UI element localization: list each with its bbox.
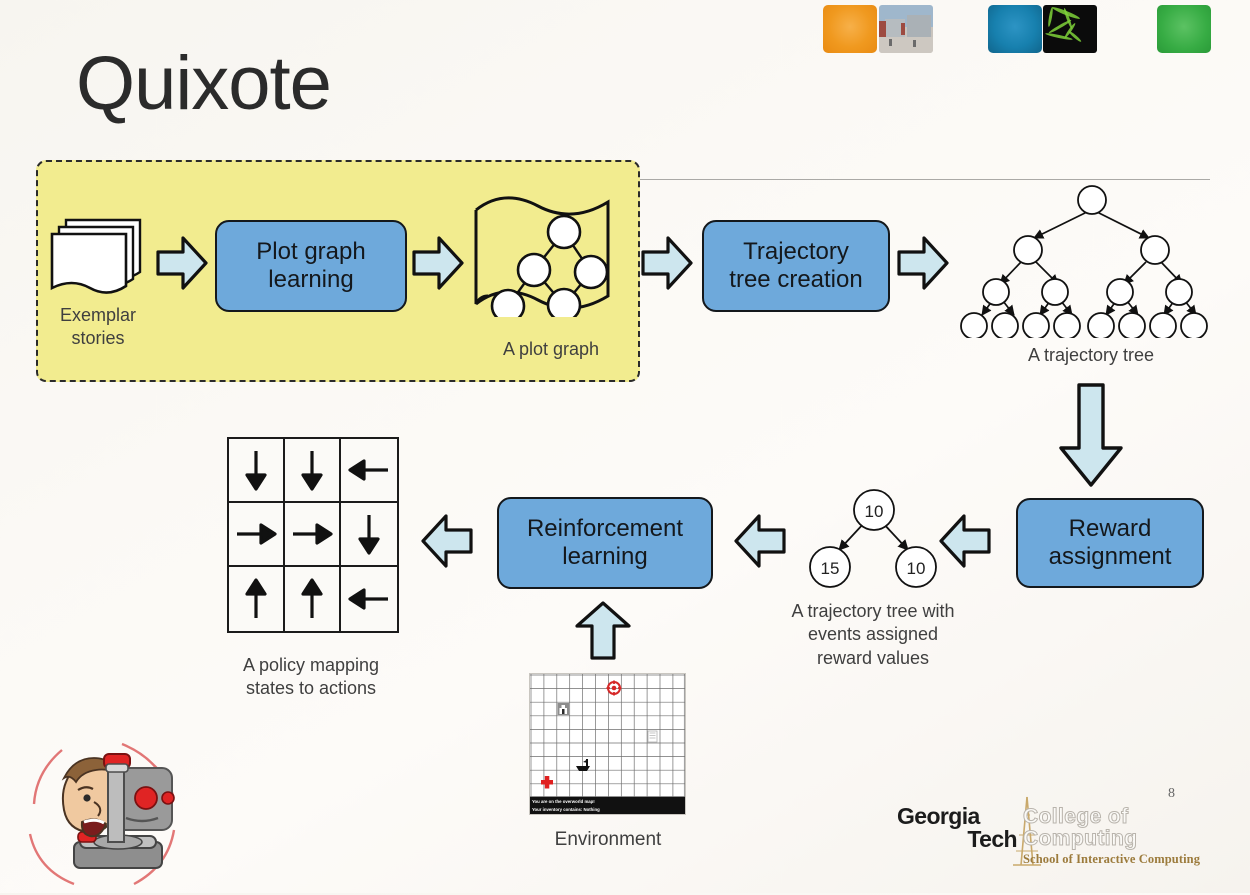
- plot-graph-artifact: [466, 192, 626, 317]
- flow-arrow-left-1: [938, 510, 992, 572]
- blue-square: [988, 5, 1042, 53]
- reinforcement-learning-label-line2: learning: [527, 543, 683, 571]
- policy-grid-caption: A policy mapping states to actions: [211, 654, 411, 701]
- environment-status-bar: You are on the overworld map! Your inven…: [530, 797, 685, 814]
- exemplar-stories-caption: Exemplar stories: [28, 304, 168, 351]
- plot-graph-learning-label-line1: Plot graph: [256, 238, 365, 266]
- arrow-right-icon: [291, 521, 333, 547]
- policy-cell-0-1: [285, 439, 341, 503]
- flow-arrow-up-environment: [572, 600, 634, 662]
- decorative-square-strip: [823, 5, 1243, 53]
- svg-text:15: 15: [821, 559, 840, 578]
- policy-cell-2-2: [341, 567, 397, 631]
- reward-tree-caption-line1: A trajectory tree with: [768, 600, 978, 623]
- arrow-down-icon: [243, 449, 269, 491]
- policy-cell-2-0: [229, 567, 285, 631]
- reward-tree-caption-line3: reward values: [768, 647, 978, 670]
- arrow-down-icon: [356, 513, 382, 555]
- reward-assignment-label-line2: assignment: [1049, 543, 1172, 571]
- flow-arrow-right-3: [640, 232, 694, 294]
- reward-tree-artifact: 10 15 10: [800, 488, 940, 598]
- reward-tree-caption: A trajectory tree with events assigned r…: [768, 600, 978, 670]
- tower-sprite: [648, 731, 657, 742]
- flow-arrow-down-big: [1055, 382, 1127, 490]
- trajectory-tree-creation-label-line1: Trajectory: [729, 238, 862, 266]
- process-box-trajectory-tree-creation[interactable]: Trajectory tree creation: [702, 220, 890, 312]
- flow-arrow-right-2: [411, 232, 465, 294]
- college-of-computing-line2: Computing: [1023, 828, 1218, 850]
- svg-text:10: 10: [865, 502, 884, 521]
- flow-arrow-right-1: [155, 232, 209, 294]
- castle-sprite: [558, 703, 570, 715]
- environment-status-line1: You are on the overworld map!: [532, 798, 683, 806]
- plot-graph-learning-label-line2: learning: [256, 266, 365, 294]
- environment-caption: Environment: [520, 828, 696, 853]
- trajectory-tree-creation-label-line2: tree creation: [729, 266, 862, 294]
- reward-assignment-label-line1: Reward: [1049, 515, 1172, 543]
- reinforcement-learning-label-line1: Reinforcement: [527, 515, 683, 543]
- policy-cell-1-2: [341, 503, 397, 567]
- exemplar-stories-icon: [48, 216, 148, 296]
- policy-cell-0-0: [229, 439, 285, 503]
- exemplar-stories-caption-line1: Exemplar: [28, 304, 168, 327]
- process-box-plot-graph-learning[interactable]: Plot graph learning: [215, 220, 407, 312]
- school-of-interactive-computing-line: School of Interactive Computing: [1023, 852, 1218, 867]
- trajectory-tree-artifact: [956, 180, 1226, 338]
- flow-arrow-left-3: [420, 510, 474, 572]
- trajectory-tree-caption: A trajectory tree: [986, 344, 1196, 367]
- arrow-left-icon: [348, 457, 390, 483]
- process-box-reinforcement-learning[interactable]: Reinforcement learning: [497, 497, 713, 589]
- campus-photo-square: [879, 5, 933, 53]
- neuron-photo-square: [1043, 5, 1097, 53]
- policy-grid-caption-line2: states to actions: [211, 677, 411, 700]
- environment-grid: [530, 674, 685, 797]
- policy-cell-0-2: [341, 439, 397, 503]
- page-title: Quixote: [76, 46, 331, 122]
- flow-arrow-right-4: [896, 232, 950, 294]
- green-square: [1157, 5, 1211, 53]
- arrow-right-icon: [235, 521, 277, 547]
- policy-cell-2-1: [285, 567, 341, 631]
- georgia-tech-logo-line2: Tech: [897, 828, 1017, 851]
- entertainment-intelligence-lab-logo: [22, 738, 192, 890]
- orange-square: [823, 5, 877, 53]
- georgia-tech-logo: Georgia Tech: [897, 805, 1017, 863]
- exemplar-stories-caption-line2: stories: [28, 327, 168, 350]
- plot-graph-caption: A plot graph: [476, 338, 626, 361]
- environment-status-line2: Your inventory contains: Nothing: [532, 806, 683, 814]
- arrow-up-icon: [243, 578, 269, 620]
- policy-cell-1-1: [285, 503, 341, 567]
- arrow-down-icon: [299, 449, 325, 491]
- policy-cell-1-0: [229, 503, 285, 567]
- policy-grid: [227, 437, 399, 633]
- slide-canvas: Quixote Exemplar stories Plot graph lear…: [0, 0, 1250, 893]
- arrow-left-icon: [348, 586, 390, 612]
- reward-tree-caption-line2: events assigned: [768, 623, 978, 646]
- arrow-up-icon: [299, 578, 325, 620]
- flow-arrow-left-2: [733, 510, 787, 572]
- policy-grid-caption-line1: A policy mapping: [211, 654, 411, 677]
- process-box-reward-assignment[interactable]: Reward assignment: [1016, 498, 1204, 588]
- college-of-computing-line1: College of: [1023, 806, 1218, 828]
- page-number: 8: [1168, 786, 1175, 802]
- svg-text:10: 10: [907, 559, 926, 578]
- environment-screenshot: You are on the overworld map! Your inven…: [529, 673, 686, 815]
- college-of-computing-logo: College of Computing School of Interacti…: [1023, 806, 1218, 867]
- georgia-tech-logo-line1: Georgia: [897, 805, 1017, 828]
